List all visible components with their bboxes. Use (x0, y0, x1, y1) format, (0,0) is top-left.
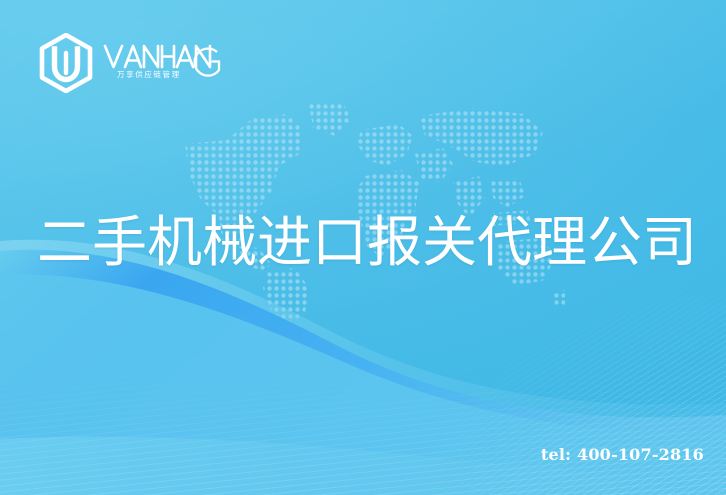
page-title: 二手机械进口报关代理公司 (37, 209, 697, 275)
brand-wordmark: 万享供应链管理 (103, 40, 221, 86)
promo-banner: 万享供应链管理 二手机械进口报关代理公司 tel: 400-107-2816 (0, 0, 726, 495)
brand-subtitle: 万享供应链管理 (117, 69, 181, 80)
vanhang-hexagon-mark-icon (38, 33, 94, 93)
contact-phone: tel: 400-107-2816 (541, 445, 704, 464)
brand-logo: 万享供应链管理 (38, 33, 221, 93)
